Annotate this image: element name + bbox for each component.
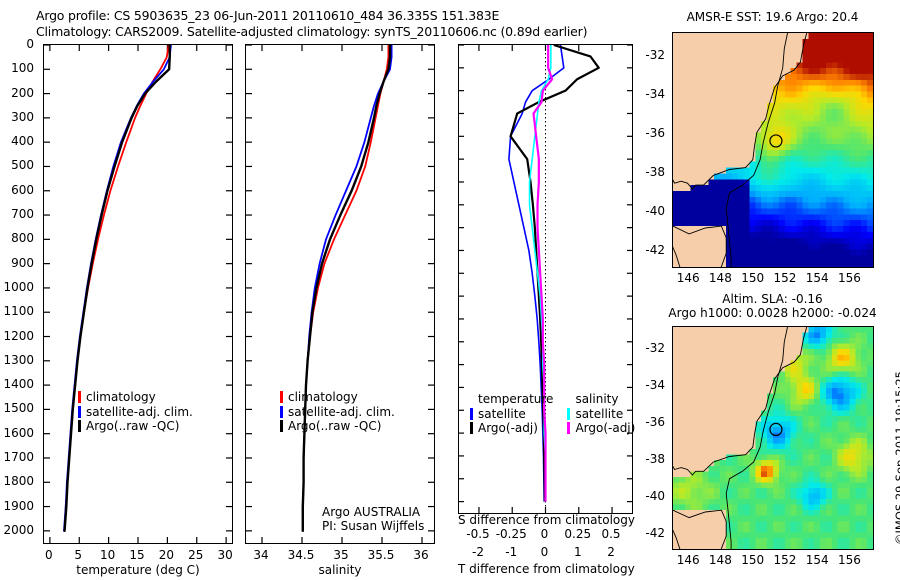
difference-panel bbox=[458, 44, 633, 514]
salinity-difference-axis-label: S difference from climatology bbox=[458, 513, 633, 527]
depth-tick-0: 0 bbox=[0, 37, 34, 51]
legend-item: satellite bbox=[470, 407, 553, 422]
sst-map-title: AMSR-E SST: 19.6 Argo: 20.4 bbox=[665, 10, 880, 24]
sla-map-ytick-labels: -32-34-36-38-40-42 bbox=[638, 326, 670, 550]
depth-tick-1600: 1600 bbox=[0, 426, 34, 440]
lat-tick--36: -36 bbox=[633, 415, 665, 429]
salinity-footer-line2: PI: Susan Wijffels bbox=[322, 519, 424, 534]
depth-tick-100: 100 bbox=[0, 61, 34, 75]
temperature-ytick-labels: 0100200300400500600700800900100011001200… bbox=[0, 44, 40, 544]
legend-header: salinity bbox=[575, 392, 635, 407]
lat-tick--42: -42 bbox=[633, 526, 665, 540]
sst-map-xtick-labels: 146148150152154156 bbox=[672, 271, 874, 285]
salinity-xtick-labels: 3434.53535.536 bbox=[245, 548, 435, 564]
legend-swatch bbox=[78, 406, 81, 418]
figure-title-line1: Argo profile: CS 5903635_23 06-Jun-2011 … bbox=[36, 8, 499, 23]
salinity-plot bbox=[246, 45, 434, 543]
legend-column: salinitysatelliteArgo(-adj) bbox=[567, 392, 635, 436]
legend-label: satellite bbox=[478, 407, 526, 422]
lat-tick--34: -34 bbox=[633, 87, 665, 101]
difference-temperature-tick-labels: -2-1012 bbox=[458, 545, 633, 559]
difference-legend: temperaturesatelliteArgo(-adj)salinitysa… bbox=[470, 392, 635, 436]
sla-map-title-line1: Altim. SLA: -0.16 bbox=[665, 292, 880, 306]
legend-item: climatology bbox=[78, 390, 193, 405]
legend-label: Argo(-adj) bbox=[478, 421, 538, 436]
sla-map-title-line2: Argo h1000: 0.0028 h2000: -0.024 bbox=[655, 306, 890, 320]
tdiff-tick-2: 2 bbox=[591, 545, 631, 559]
sst-map-image[interactable] bbox=[673, 33, 873, 267]
legend-item: climatology bbox=[280, 390, 395, 405]
legend-item: Argo(-adj) bbox=[567, 421, 635, 436]
depth-tick-900: 900 bbox=[0, 256, 34, 270]
lat-tick--40: -40 bbox=[633, 489, 665, 503]
legend-swatch bbox=[470, 408, 473, 420]
depth-tick-200: 200 bbox=[0, 86, 34, 100]
legend-item: Argo(..raw -QC) bbox=[280, 419, 395, 434]
xtick-34.5: 34.5 bbox=[281, 548, 321, 562]
lat-tick--34: -34 bbox=[633, 378, 665, 392]
depth-tick-300: 300 bbox=[0, 110, 34, 124]
depth-tick-700: 700 bbox=[0, 207, 34, 221]
depth-tick-600: 600 bbox=[0, 183, 34, 197]
temperature-xtick-labels: 051015202530 bbox=[43, 548, 233, 564]
temperature-axis-label: temperature (deg C) bbox=[43, 563, 233, 577]
salinity-axis-label: salinity bbox=[245, 563, 435, 577]
legend-column: temperaturesatelliteArgo(-adj) bbox=[470, 392, 553, 436]
lon-tick-156: 156 bbox=[829, 271, 869, 285]
temperature-panel bbox=[43, 44, 233, 544]
lon-tick-156: 156 bbox=[829, 553, 869, 567]
depth-tick-1100: 1100 bbox=[0, 304, 34, 318]
difference-plot bbox=[459, 45, 632, 513]
depth-tick-800: 800 bbox=[0, 231, 34, 245]
legend-swatch bbox=[567, 422, 570, 434]
legend-swatch bbox=[567, 408, 570, 420]
lat-tick--40: -40 bbox=[633, 204, 665, 218]
depth-tick-1200: 1200 bbox=[0, 329, 34, 343]
legend-label: Argo(..raw -QC) bbox=[86, 419, 179, 434]
lat-tick--38: -38 bbox=[633, 165, 665, 179]
legend-swatch bbox=[280, 406, 283, 418]
lat-tick--32: -32 bbox=[633, 48, 665, 62]
depth-tick-1400: 1400 bbox=[0, 377, 34, 391]
legend-swatch bbox=[78, 420, 81, 432]
legend-item: satellite bbox=[567, 407, 635, 422]
lat-tick--42: -42 bbox=[633, 243, 665, 257]
depth-tick-1700: 1700 bbox=[0, 450, 34, 464]
sdiff-tick-0.5: 0.5 bbox=[587, 527, 635, 541]
legend-header: temperature bbox=[478, 392, 553, 407]
legend-swatch bbox=[280, 420, 283, 432]
depth-tick-1000: 1000 bbox=[0, 280, 34, 294]
legend-label: Argo(-adj) bbox=[575, 421, 635, 436]
legend-label: climatology bbox=[288, 390, 358, 405]
legend-item: satellite-adj. clim. bbox=[280, 405, 395, 420]
legend-label: Argo(..raw -QC) bbox=[288, 419, 381, 434]
sla-map-xtick-labels: 146148150152154156 bbox=[672, 553, 874, 567]
depth-tick-1500: 1500 bbox=[0, 401, 34, 415]
legend-label: satellite-adj. clim. bbox=[288, 405, 395, 420]
depth-tick-500: 500 bbox=[0, 158, 34, 172]
xtick-35.5: 35.5 bbox=[361, 548, 401, 562]
legend-item: satellite-adj. clim. bbox=[78, 405, 193, 420]
depth-tick-1900: 1900 bbox=[0, 499, 34, 513]
legend-label: satellite-adj. clim. bbox=[86, 405, 193, 420]
lat-tick--36: -36 bbox=[633, 126, 665, 140]
temperature-plot bbox=[44, 45, 232, 543]
depth-tick-1800: 1800 bbox=[0, 474, 34, 488]
legend-label: satellite bbox=[575, 407, 623, 422]
legend-swatch bbox=[78, 391, 81, 403]
depth-tick-2000: 2000 bbox=[0, 523, 34, 537]
legend-swatch bbox=[470, 422, 473, 434]
salinity-panel bbox=[245, 44, 435, 544]
sla-map-image[interactable] bbox=[673, 327, 873, 549]
temperature-legend: climatologysatellite-adj. clim.Argo(..ra… bbox=[78, 390, 193, 434]
depth-tick-400: 400 bbox=[0, 134, 34, 148]
legend-item: Argo(..raw -QC) bbox=[78, 419, 193, 434]
legend-label: climatology bbox=[86, 390, 156, 405]
figure-title-line2: Climatology: CARS2009. Satellite-adjuste… bbox=[36, 24, 587, 39]
lat-tick--32: -32 bbox=[633, 341, 665, 355]
sst-map-panel[interactable] bbox=[672, 32, 874, 268]
lat-tick--38: -38 bbox=[633, 452, 665, 466]
xtick-34: 34 bbox=[241, 548, 281, 562]
legend-swatch bbox=[280, 391, 283, 403]
xtick-35: 35 bbox=[321, 548, 361, 562]
xtick-30: 30 bbox=[205, 548, 245, 562]
legend-item: Argo(-adj) bbox=[470, 421, 553, 436]
temperature-difference-axis-label: T difference from climatology bbox=[458, 562, 633, 576]
difference-salinity-tick-labels: -0.5-0.2500.250.5 bbox=[458, 527, 633, 541]
salinity-legend: climatologysatellite-adj. clim.Argo(..ra… bbox=[280, 390, 395, 434]
depth-tick-1300: 1300 bbox=[0, 353, 34, 367]
xtick-36: 36 bbox=[401, 548, 441, 562]
salinity-footer-line1: Argo AUSTRALIA bbox=[322, 505, 420, 520]
copyright-label: ©IMOS 29-Sep-2011 19:15:25 bbox=[893, 371, 900, 545]
sst-map-ytick-labels: -32-34-36-38-40-42 bbox=[638, 32, 670, 268]
sla-map-panel[interactable] bbox=[672, 326, 874, 550]
